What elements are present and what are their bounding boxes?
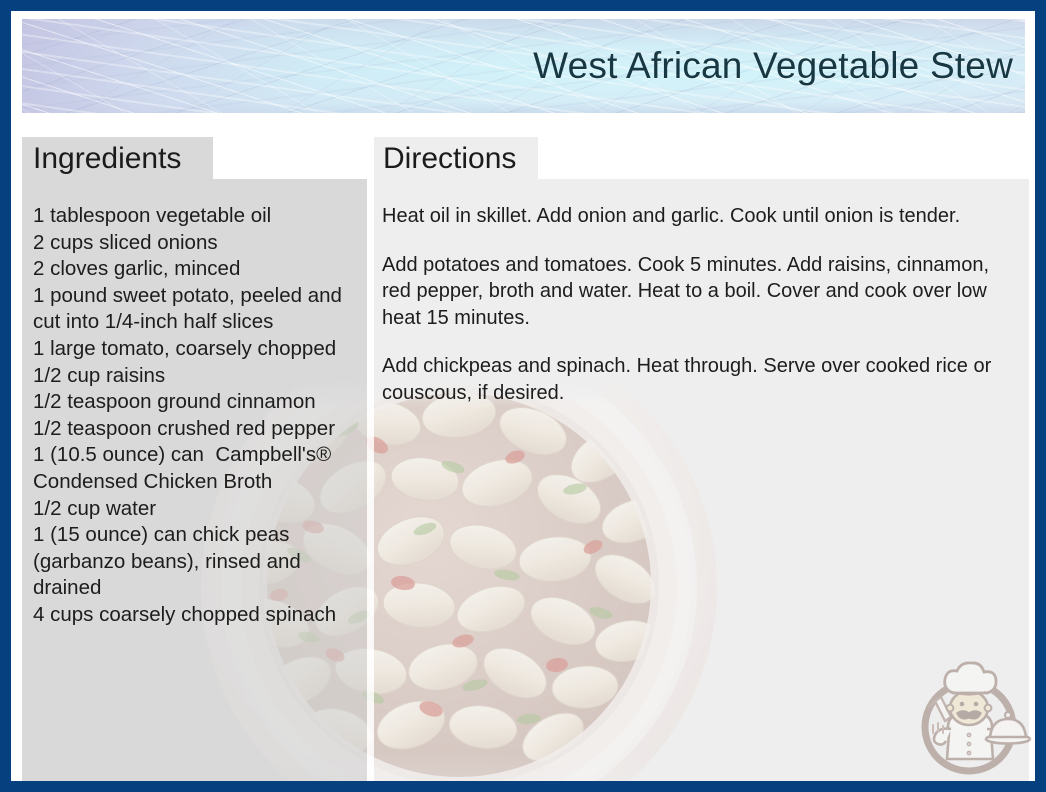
direction-step: Add potatoes and tomatoes. Cook 5 minute… <box>382 252 1016 332</box>
recipe-page: West African Vegetable Stew <box>11 11 1035 781</box>
list-item: 1 pound sweet potato, peeled and cut int… <box>33 283 365 336</box>
directions-text: Heat oil in skillet. Add onion and garli… <box>382 203 1016 406</box>
list-item: 1 tablespoon vegetable oil <box>33 203 365 230</box>
list-item: 1/2 teaspoon crushed red pepper <box>33 416 365 443</box>
ingredients-list: 1 tablespoon vegetable oil 2 cups sliced… <box>33 203 365 629</box>
list-item: 1/2 cup raisins <box>33 363 365 390</box>
direction-step: Heat oil in skillet. Add onion and garli… <box>382 203 1016 230</box>
ingredients-heading: Ingredients <box>33 144 181 174</box>
list-item: 1/2 cup water <box>33 496 365 523</box>
page-title: West African Vegetable Stew <box>533 45 1013 87</box>
ingredients-header-tab: Ingredients <box>22 137 213 181</box>
list-item: 1 (15 ounce) can chick peas (garbanzo be… <box>33 522 365 602</box>
recipe-card: West African Vegetable Stew <box>0 0 1046 792</box>
list-item: 2 cloves garlic, minced <box>33 256 365 283</box>
panel-gap-overlay <box>367 379 374 781</box>
list-item: 1/2 teaspoon ground cinnamon <box>33 389 365 416</box>
list-item: 2 cups sliced onions <box>33 230 365 257</box>
direction-step: Add chickpeas and spinach. Heat through.… <box>382 353 1016 406</box>
list-item: 1 large tomato, coarsely chopped <box>33 336 365 363</box>
title-banner: West African Vegetable Stew <box>22 19 1025 113</box>
directions-heading: Directions <box>383 144 516 174</box>
list-item: 1 (10.5 ounce) can Campbell's® Condensed… <box>33 442 365 495</box>
list-item: 4 cups coarsely chopped spinach <box>33 602 365 629</box>
directions-header-tab: Directions <box>374 137 538 181</box>
